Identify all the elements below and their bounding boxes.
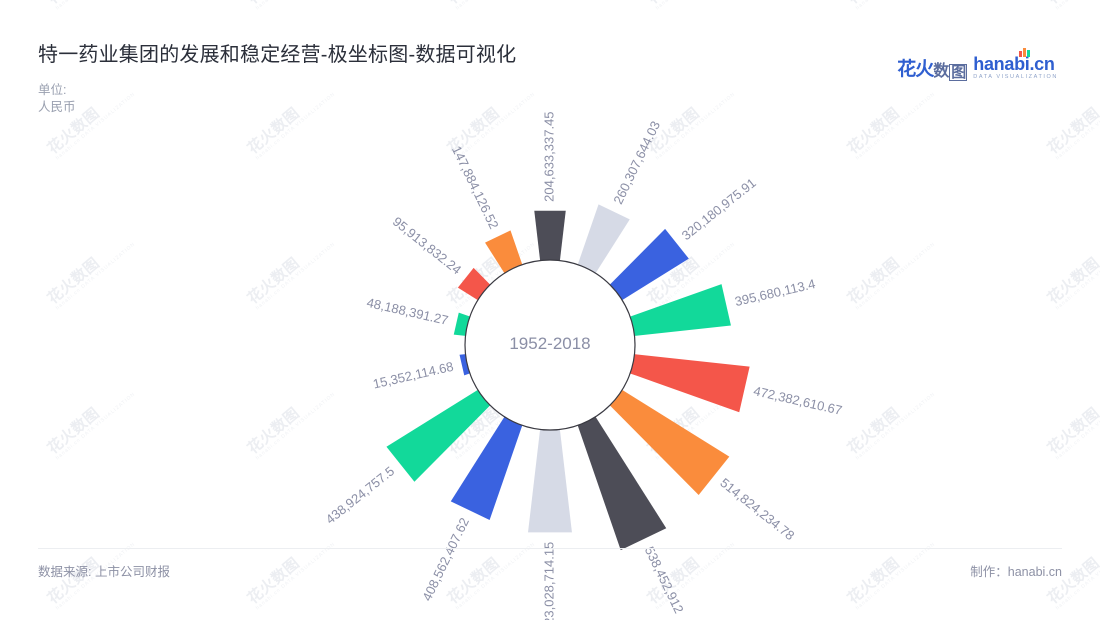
bar-value-label: 514,824,234.78 — [717, 475, 797, 543]
polar-chart-svg: 15,352,114.6848,188,391.2795,913,832.241… — [0, 0, 1100, 620]
logo-char-huo: 火 — [915, 54, 933, 81]
page-title: 特一药业集团的发展和稳定经营-极坐标图-数据可视化 — [38, 38, 516, 67]
bar-value-label: 320,180,975.91 — [679, 175, 759, 243]
data-source-label: 数据来源: 上市公司财报 — [38, 561, 170, 580]
polar-bar[interactable] — [528, 429, 572, 532]
logo-wordmark: hanabi.cn — [973, 55, 1058, 73]
logo-char-shu: 数 — [933, 57, 948, 81]
sparkle-icon — [1017, 48, 1033, 58]
chart-inner-circle — [465, 260, 635, 430]
bar-value-label: 204,633,337.45 — [541, 111, 556, 201]
hanabi-logo: 花火数图 hanabi.cn DATA VISUALIZATION — [897, 54, 1058, 81]
polar-bar[interactable] — [630, 354, 750, 412]
bar-value-label: 395,680,113.4 — [733, 276, 816, 309]
bar-value-label: 15,352,114.68 — [371, 359, 454, 392]
chart-unit-label: 单位: 人民币 — [38, 82, 78, 116]
credit-label: 制作：hanabi.cn — [970, 561, 1062, 580]
chart-page: 花火数图hanabi.cn DATA VISUALIZATION花火数图hana… — [0, 0, 1100, 620]
logo-tagline: DATA VISUALIZATION — [973, 75, 1058, 81]
polar-bar[interactable] — [534, 211, 565, 261]
logo-chinese: 花火数图 — [897, 54, 967, 81]
logo-wordmark-text: hanabi.cn — [973, 54, 1054, 74]
logo-char-hua: 花 — [897, 54, 915, 81]
polar-bar[interactable] — [610, 229, 689, 300]
bar-value-label: 48,188,391.27 — [365, 295, 449, 328]
bar-value-label: 260,307,644.03 — [610, 119, 663, 207]
polar-bar[interactable] — [630, 284, 731, 336]
polar-bar[interactable] — [578, 204, 630, 273]
bar-value-label: 408,562,407.62 — [419, 515, 472, 603]
bar-value-label: 438,924,757.5 — [323, 463, 397, 527]
polar-bar-chart: 15,352,114.6848,188,391.2795,913,832.241… — [0, 0, 1100, 620]
bar-value-label: 95,913,832.24 — [390, 214, 464, 278]
footer-divider — [38, 548, 1062, 549]
bar-value-label: 423,028,714.15 — [541, 542, 556, 620]
logo-char-tu: 图 — [949, 64, 967, 81]
logo-english: hanabi.cn DATA VISUALIZATION — [973, 55, 1058, 81]
bar-value-label: 472,382,610.67 — [752, 383, 843, 418]
bar-value-label: 147,884,126.52 — [449, 143, 502, 231]
bar-value-label: 538,452,912 — [642, 544, 687, 616]
